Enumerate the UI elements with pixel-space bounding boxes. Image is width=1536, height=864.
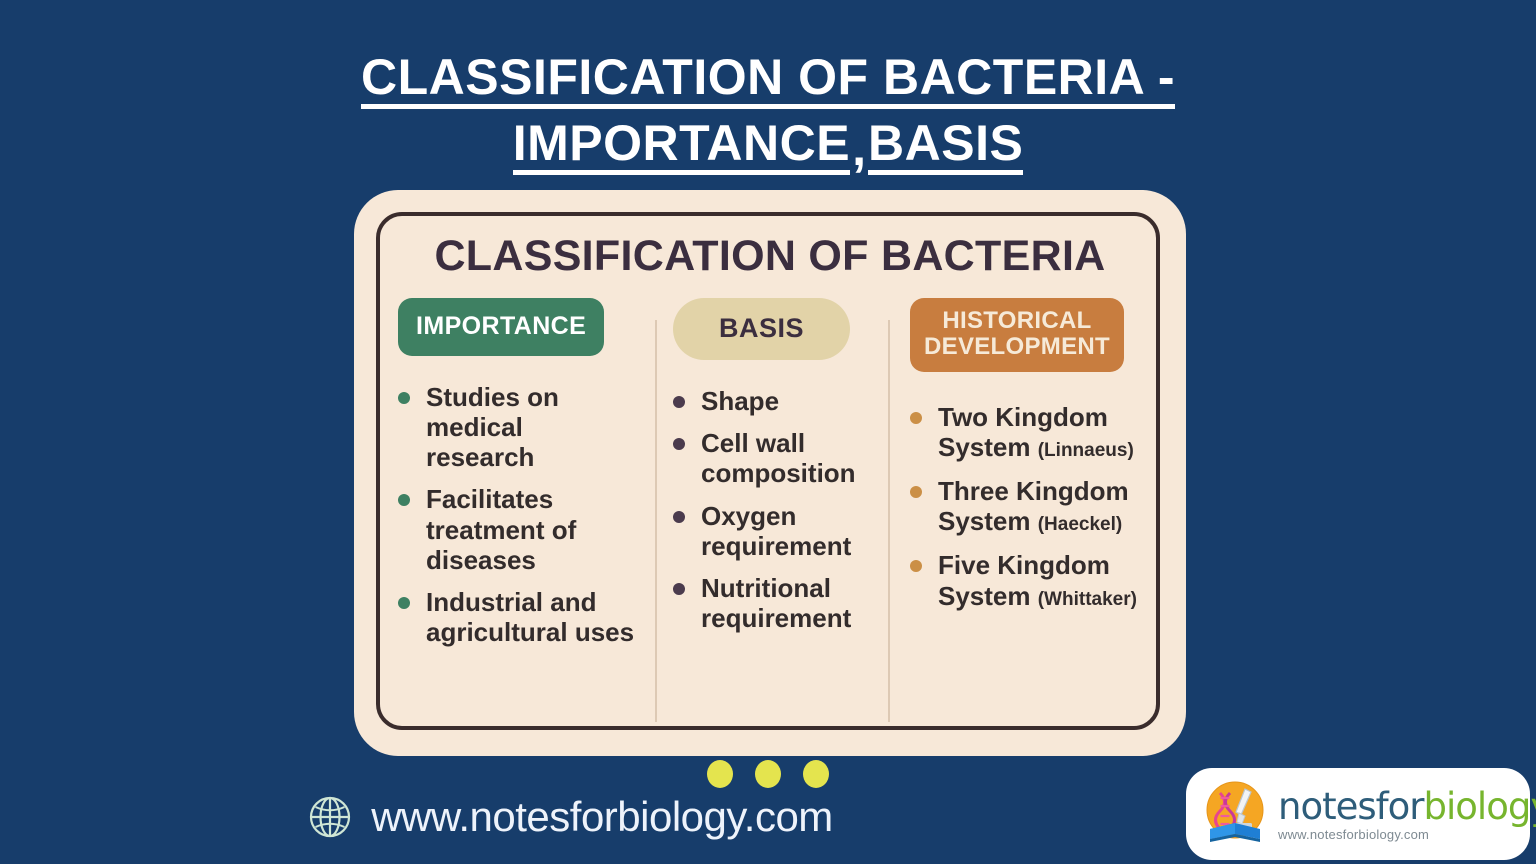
logo-wordmark: notesforbiology (1278, 788, 1536, 825)
logo-word-biology: biology (1424, 785, 1536, 828)
footer-url: www.notesforbiology.com (0, 793, 1140, 841)
column-importance: IMPORTANCE Studies on medical research F… (398, 298, 636, 659)
bullet-dot-icon (673, 511, 685, 523)
column-divider-1 (655, 320, 657, 722)
card-columns: IMPORTANCE Studies on medical research F… (390, 298, 1150, 728)
importance-list: Studies on medical research Facilitates … (398, 382, 636, 647)
list-item: Five Kingdom System (Whittaker) (910, 550, 1160, 610)
card-heading: CLASSIFICATION OF BACTERIA (354, 232, 1186, 281)
list-item-attribution: (Haeckel) (1038, 514, 1123, 535)
list-item-label: Facilitates treatment of diseases (426, 484, 576, 574)
list-item: Three Kingdom System (Haeckel) (910, 476, 1160, 536)
column-basis: BASIS Shape Cell wall composition Oxygen… (673, 298, 885, 645)
list-item: Two Kingdom System (Linnaeus) (910, 402, 1160, 462)
list-item-label: Studies on medical research (426, 382, 559, 472)
globe-icon (307, 794, 353, 840)
bullet-dot-icon (398, 392, 410, 404)
microscope-dna-book-icon (1198, 777, 1272, 851)
site-logo-badge[interactable]: notesforbiology www.notesforbiology.com (1186, 768, 1530, 860)
logo-word-notes: notes (1278, 785, 1376, 828)
title-line-2-basis: BASIS (868, 118, 1023, 175)
bullet-dot-icon (673, 438, 685, 450)
badge-basis[interactable]: BASIS (673, 298, 850, 360)
dot-icon (803, 760, 829, 788)
list-item: Nutritional requirement (673, 573, 885, 633)
logo-text: notesforbiology www.notesforbiology.com (1278, 788, 1536, 841)
bullet-dot-icon (910, 412, 922, 424)
badge-line-2: DEVELOPMENT (924, 333, 1110, 360)
logo-subtitle: www.notesforbiology.com (1278, 828, 1536, 841)
historical-list: Two Kingdom System (Linnaeus) Three King… (910, 402, 1160, 611)
title-line-2: IMPORTANCE,BASIS (0, 118, 1536, 175)
list-item: Facilitates treatment of diseases (398, 484, 636, 574)
title-comma: , (850, 123, 868, 175)
badge-importance[interactable]: IMPORTANCE (398, 298, 604, 356)
list-item: Studies on medical research (398, 382, 636, 472)
list-item-label: Oxygen requirement (701, 501, 851, 561)
list-item: Shape (673, 386, 885, 416)
column-historical-development: HISTORICAL DEVELOPMENT Two Kingdom Syste… (910, 298, 1160, 625)
basis-list: Shape Cell wall composition Oxygen requi… (673, 386, 885, 633)
title-line-2-importance: IMPORTANCE (513, 118, 850, 175)
bullet-dot-icon (398, 494, 410, 506)
infographic-card: CLASSIFICATION OF BACTERIA IMPORTANCE St… (354, 190, 1186, 756)
list-item-attribution: (Linnaeus) (1038, 440, 1134, 461)
list-item-label: Shape (701, 386, 779, 416)
list-item: Cell wall composition (673, 428, 885, 488)
bullet-dot-icon (910, 560, 922, 572)
bullet-dot-icon (398, 597, 410, 609)
badge-historical-development[interactable]: HISTORICAL DEVELOPMENT (910, 298, 1124, 372)
bullet-dot-icon (673, 396, 685, 408)
bullet-dot-icon (910, 486, 922, 498)
logo-word-for: for (1376, 785, 1424, 828)
footer-url-label[interactable]: www.notesforbiology.com (371, 793, 833, 841)
list-item-label: Nutritional requirement (701, 573, 851, 633)
list-item-label: Cell wall composition (701, 428, 856, 488)
dot-icon (755, 760, 781, 788)
badge-line-1: HISTORICAL (942, 307, 1091, 334)
list-item-label: Industrial and agricultural uses (426, 587, 634, 647)
list-item: Industrial and agricultural uses (398, 587, 636, 647)
title-line-1: CLASSIFICATION OF BACTERIA - (0, 52, 1536, 109)
page-title: CLASSIFICATION OF BACTERIA - IMPORTANCE,… (0, 52, 1536, 175)
list-item-attribution: (Whittaker) (1038, 589, 1137, 610)
bullet-dot-icon (673, 583, 685, 595)
title-line-1-text: CLASSIFICATION OF BACTERIA - (361, 52, 1175, 109)
list-item: Oxygen requirement (673, 501, 885, 561)
column-divider-2 (888, 320, 890, 722)
dot-icon (707, 760, 733, 788)
